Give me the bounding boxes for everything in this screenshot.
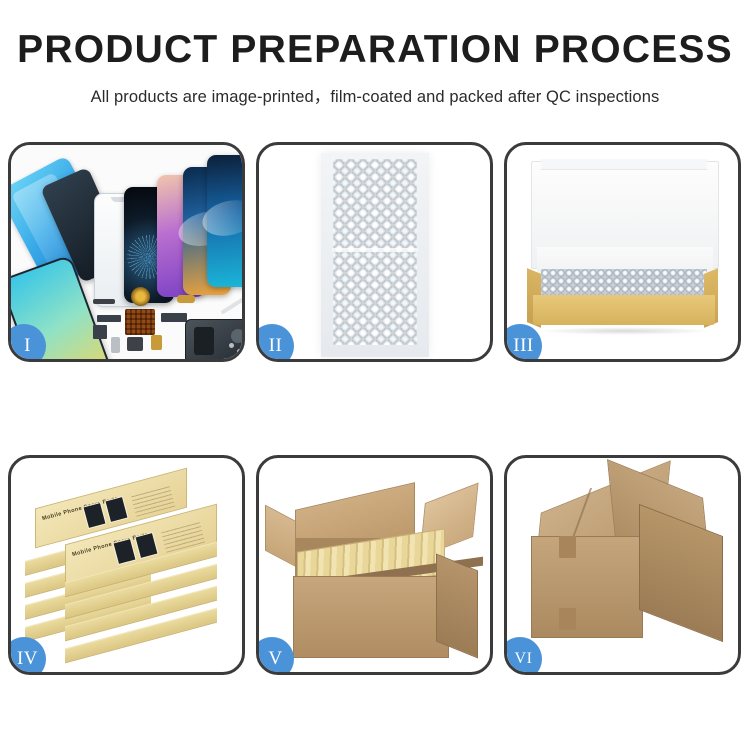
- step-badge-label: VI: [515, 650, 533, 668]
- step-badge-label: II: [269, 335, 283, 357]
- taptic-engine-icon: [127, 337, 143, 351]
- step-panel-2: II: [256, 142, 493, 362]
- carton-side-icon: [436, 554, 478, 659]
- box-lid-tab-icon: [541, 159, 707, 170]
- step-4-image: Mobile Phone Spare Parts Mobile Phone Sp…: [11, 458, 242, 672]
- page-title: PRODUCT PREPARATION PROCESS: [0, 30, 750, 69]
- box-stack: Mobile Phone Spare Parts Mobile Phone Sp…: [21, 478, 235, 668]
- sim-tray-icon: [151, 335, 162, 350]
- carton-front-face-icon: [531, 536, 643, 638]
- step-panel-1: I: [8, 142, 245, 362]
- step-panel-5: V: [256, 455, 493, 675]
- step-panel-3: III: [504, 142, 741, 362]
- screwdriver-icon: [220, 295, 242, 314]
- step-badge-label: III: [513, 335, 533, 357]
- step-1-image: [11, 145, 242, 359]
- screw-icon: [229, 343, 234, 348]
- header: PRODUCT PREPARATION PROCESS All products…: [0, 0, 750, 107]
- flex-cable-icon: [161, 313, 187, 322]
- step-3-image: [507, 145, 738, 359]
- phone-display-teal-icon: [207, 155, 242, 287]
- screw-icon: [237, 349, 242, 354]
- flex-connector-icon: [93, 325, 107, 339]
- product-preparation-infographic: PRODUCT PREPARATION PROCESS All products…: [0, 0, 750, 750]
- box-front-wall-icon: [533, 295, 715, 325]
- carton-tape-lower-icon: [559, 608, 576, 630]
- bubble-wrap-bubbles-icon: [333, 159, 417, 345]
- flex-cable-icon: [97, 315, 121, 322]
- bubble-wrapped-contents-icon: [541, 269, 707, 297]
- speaker-coil-icon: [131, 287, 150, 306]
- carton-right-face-icon: [639, 504, 723, 642]
- step-panel-4: Mobile Phone Spare Parts Mobile Phone Sp…: [8, 455, 245, 675]
- step-panel-6: VI: [504, 455, 741, 675]
- camera-lens-icon: [111, 337, 120, 353]
- gold-bracket-icon: [177, 295, 195, 303]
- drop-shadow: [537, 327, 713, 335]
- step-2-image: [259, 145, 490, 359]
- step-badge-label: IV: [17, 648, 38, 670]
- carton-tape-upper-icon: [559, 536, 576, 558]
- back-housing-icon: [185, 319, 242, 359]
- step-badge-label: I: [24, 335, 31, 357]
- step-6-image: [507, 458, 738, 672]
- bag-seal-icon: [332, 248, 418, 252]
- carton-front-icon: [293, 576, 449, 658]
- antenna-strip-icon: [93, 299, 115, 304]
- step-5-image: [259, 458, 490, 672]
- page-subtitle: All products are image-printed，film-coat…: [0, 83, 750, 107]
- spare-parts-cluster: [89, 285, 242, 359]
- steps-grid: I II: [8, 142, 742, 675]
- copper-mesh-icon: [125, 309, 155, 335]
- step-badge-label: V: [268, 648, 282, 670]
